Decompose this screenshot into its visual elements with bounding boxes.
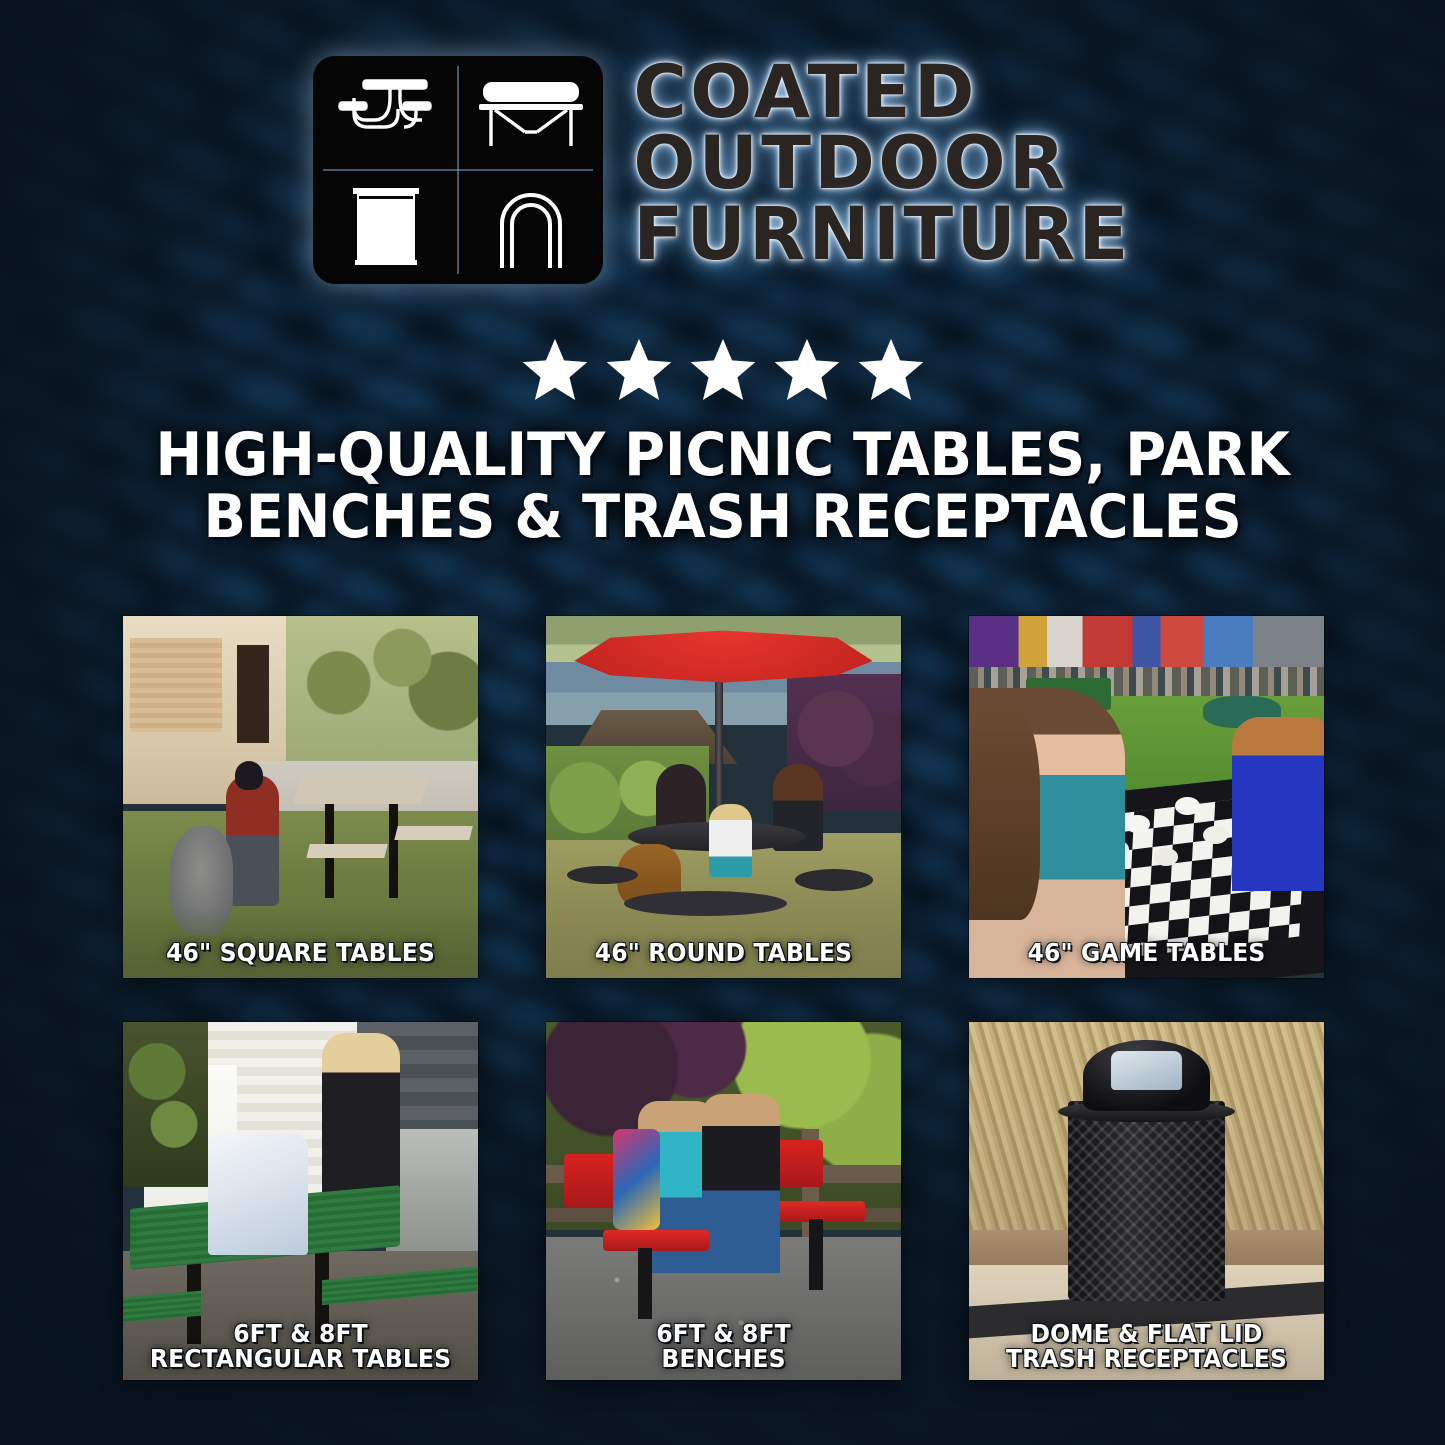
caption-line: 6FT & 8FT: [562, 1321, 884, 1347]
caption-line: 46" ROUND TABLES: [562, 940, 884, 966]
caption-line: DOME & FLAT LID: [985, 1321, 1307, 1347]
product-card-game-tables[interactable]: 46" GAME TABLES: [969, 616, 1324, 978]
brand-line-2: OUTDOOR: [633, 129, 1131, 200]
picnic-table-icon: [313, 56, 458, 170]
page-title: HIGH-QUALITY PICNIC TABLES, PARK BENCHES…: [51, 424, 1395, 549]
product-caption: 46" GAME TABLES: [980, 940, 1314, 966]
product-category-grid: 46" SQUARE TABLES: [123, 616, 1331, 1380]
bike-rack-icon: [458, 170, 603, 284]
caption-line: TRASH RECEPTACLES: [985, 1346, 1307, 1372]
product-caption: 46" ROUND TABLES: [557, 940, 891, 966]
star-rating: [0, 336, 1445, 404]
product-card-round-tables[interactable]: 46" ROUND TABLES: [546, 616, 901, 978]
brand-line-1: COATED: [633, 58, 1131, 129]
caption-line: 46" GAME TABLES: [985, 940, 1307, 966]
headline-line-2: BENCHES & TRASH RECEPTACLES: [106, 486, 1338, 548]
brand-wordmark: COATED OUTDOOR FURNITURE: [633, 56, 1131, 270]
product-photo-round-tables: [546, 616, 901, 978]
product-photo-square-tables: [123, 616, 478, 978]
park-bench-icon: [458, 56, 603, 170]
product-caption: 6FT & 8FT BENCHES: [557, 1321, 891, 1373]
product-caption: 6FT & 8FT RECTANGULAR TABLES: [134, 1321, 468, 1373]
trash-receptacle-icon: [313, 170, 458, 284]
brand-line-3: FURNITURE: [633, 200, 1131, 271]
product-card-benches[interactable]: 6FT & 8FT BENCHES: [546, 1022, 901, 1380]
star-icon: [856, 336, 926, 404]
product-photo-game-tables: [969, 616, 1324, 978]
product-card-trash-receptacles[interactable]: DOME & FLAT LID TRASH RECEPTACLES: [969, 1022, 1324, 1380]
headline-line-1: HIGH-QUALITY PICNIC TABLES, PARK: [106, 424, 1338, 486]
caption-line: BENCHES: [562, 1346, 884, 1372]
brand-header: COATED OUTDOOR FURNITURE: [0, 56, 1445, 284]
caption-line: 6FT & 8FT: [139, 1321, 461, 1347]
caption-line: RECTANGULAR TABLES: [139, 1346, 461, 1372]
product-caption: 46" SQUARE TABLES: [134, 940, 468, 966]
star-icon: [520, 336, 590, 404]
product-caption: DOME & FLAT LID TRASH RECEPTACLES: [980, 1321, 1314, 1373]
marketing-poster: COATED OUTDOOR FURNITURE HIGH-QUALITY PI…: [0, 0, 1445, 1445]
star-icon: [688, 336, 758, 404]
product-card-rectangular-tables[interactable]: 6FT & 8FT RECTANGULAR TABLES: [123, 1022, 478, 1380]
product-card-square-tables[interactable]: 46" SQUARE TABLES: [123, 616, 478, 978]
caption-line: 46" SQUARE TABLES: [139, 940, 461, 966]
star-icon: [772, 336, 842, 404]
coated-outdoor-furniture-logo[interactable]: [313, 56, 603, 284]
star-icon: [604, 336, 674, 404]
